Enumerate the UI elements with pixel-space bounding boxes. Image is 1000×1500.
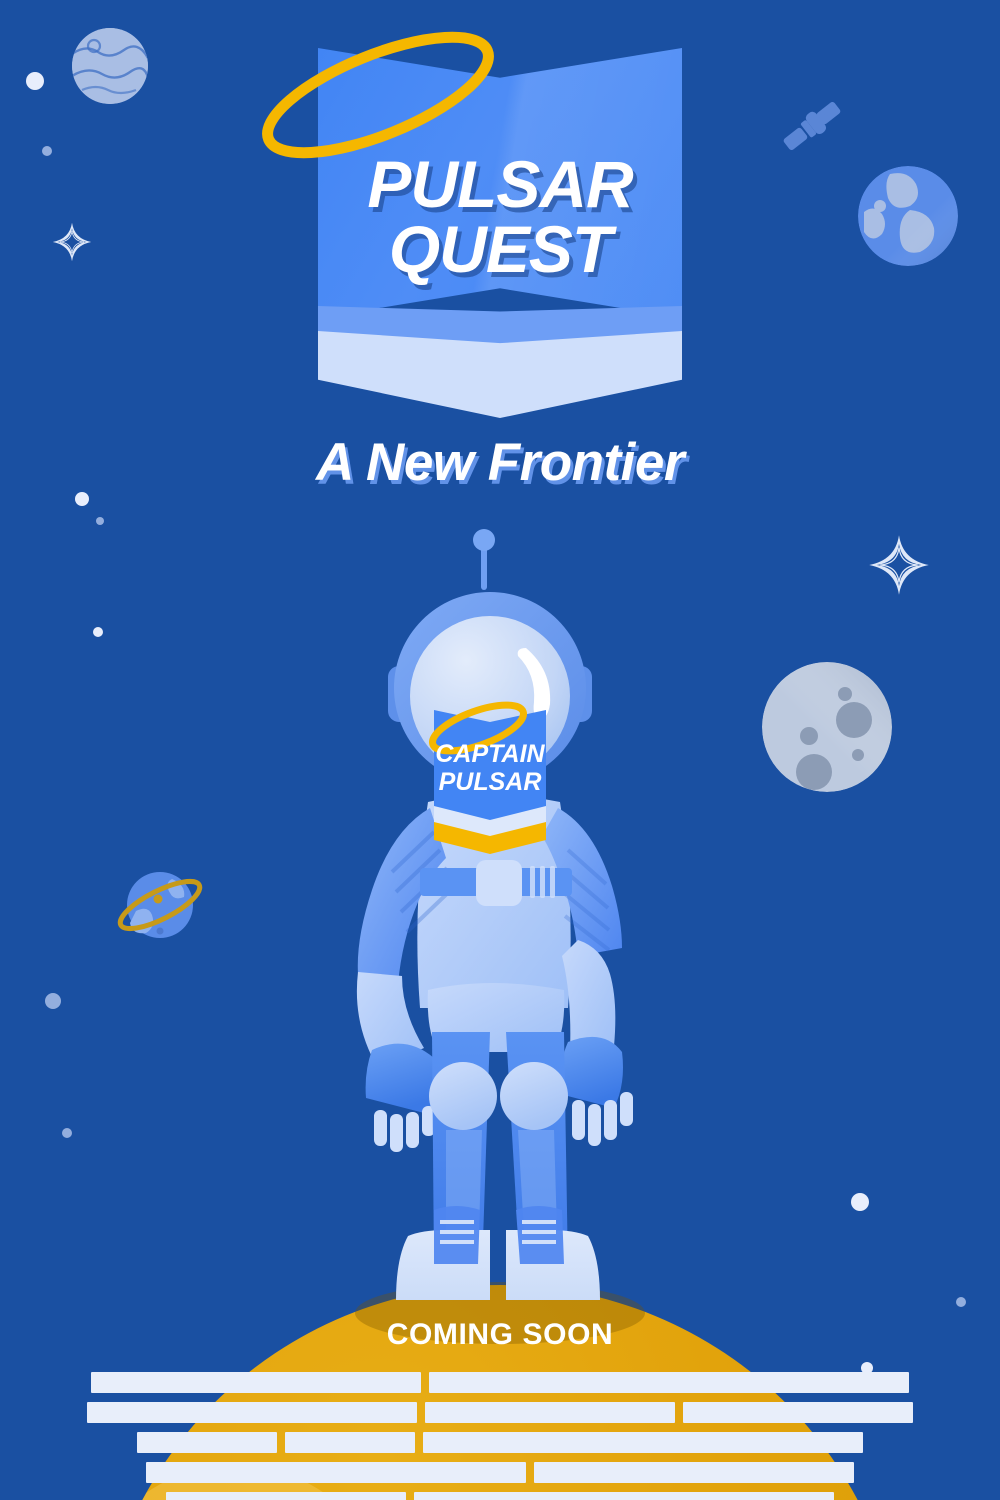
orbit-ring-icon bbox=[248, 10, 508, 180]
chest-badge-line2: PULSAR bbox=[439, 768, 542, 796]
star-dot bbox=[96, 517, 104, 525]
placeholder-bar bbox=[429, 1372, 909, 1393]
poster-canvas: PULSAR QUEST A New Frontier bbox=[0, 0, 1000, 1500]
sparkle-star-icon bbox=[868, 534, 930, 596]
knee-pad-left bbox=[429, 1062, 497, 1130]
placeholder-bar bbox=[87, 1402, 417, 1423]
placeholder-bar bbox=[166, 1492, 406, 1500]
sparkle-star-icon bbox=[52, 222, 92, 262]
shield-bottom-chevron bbox=[318, 331, 682, 418]
satellite-icon bbox=[778, 92, 846, 160]
grey-moon-icon bbox=[762, 662, 892, 792]
placeholder-bar bbox=[534, 1462, 854, 1483]
placeholder-row bbox=[0, 1462, 1000, 1483]
star-dot bbox=[42, 146, 52, 156]
striped-planet-icon bbox=[72, 28, 148, 104]
poster-subtitle: A New Frontier bbox=[0, 432, 1000, 493]
chest-badge-line1: CAPTAIN bbox=[435, 740, 545, 768]
placeholder-bar bbox=[423, 1432, 863, 1453]
belt-buckle bbox=[476, 860, 522, 906]
glove-left bbox=[366, 1044, 436, 1152]
star-dot bbox=[93, 627, 103, 637]
star-dot bbox=[851, 1193, 869, 1211]
ringed-planet-icon bbox=[110, 855, 210, 955]
star-dot bbox=[45, 993, 61, 1009]
placeholder-bar bbox=[414, 1492, 834, 1500]
knee-pad-right bbox=[500, 1062, 568, 1130]
glove-right bbox=[560, 1037, 633, 1146]
placeholder-bar bbox=[91, 1372, 421, 1393]
astronaut-figure: CAPTAIN PULSAR bbox=[300, 520, 700, 1310]
placeholder-row bbox=[0, 1372, 1000, 1393]
emblem-title-line2: QUEST bbox=[318, 217, 682, 282]
placeholder-bar bbox=[425, 1402, 675, 1423]
coming-soon-label: COMING SOON bbox=[0, 1318, 1000, 1352]
star-dot bbox=[62, 1128, 72, 1138]
belt-stripes bbox=[530, 866, 555, 898]
placeholder-row bbox=[0, 1402, 1000, 1423]
placeholder-row bbox=[0, 1432, 1000, 1453]
star-dot bbox=[26, 72, 44, 90]
pulsar-quest-emblem: PULSAR QUEST bbox=[318, 48, 682, 418]
forearm-right bbox=[562, 940, 615, 1052]
placeholder-row bbox=[0, 1492, 1000, 1500]
placeholder-bar bbox=[137, 1432, 277, 1453]
placeholder-bar bbox=[285, 1432, 415, 1453]
placeholder-bar bbox=[146, 1462, 526, 1483]
star-dot bbox=[956, 1297, 966, 1307]
striped-planet-bands bbox=[72, 28, 148, 104]
star-dot bbox=[75, 492, 89, 506]
placeholder-text-block bbox=[0, 1372, 1000, 1500]
placeholder-bar bbox=[683, 1402, 913, 1423]
earth-planet-icon bbox=[858, 166, 958, 266]
antenna-icon bbox=[473, 529, 495, 590]
